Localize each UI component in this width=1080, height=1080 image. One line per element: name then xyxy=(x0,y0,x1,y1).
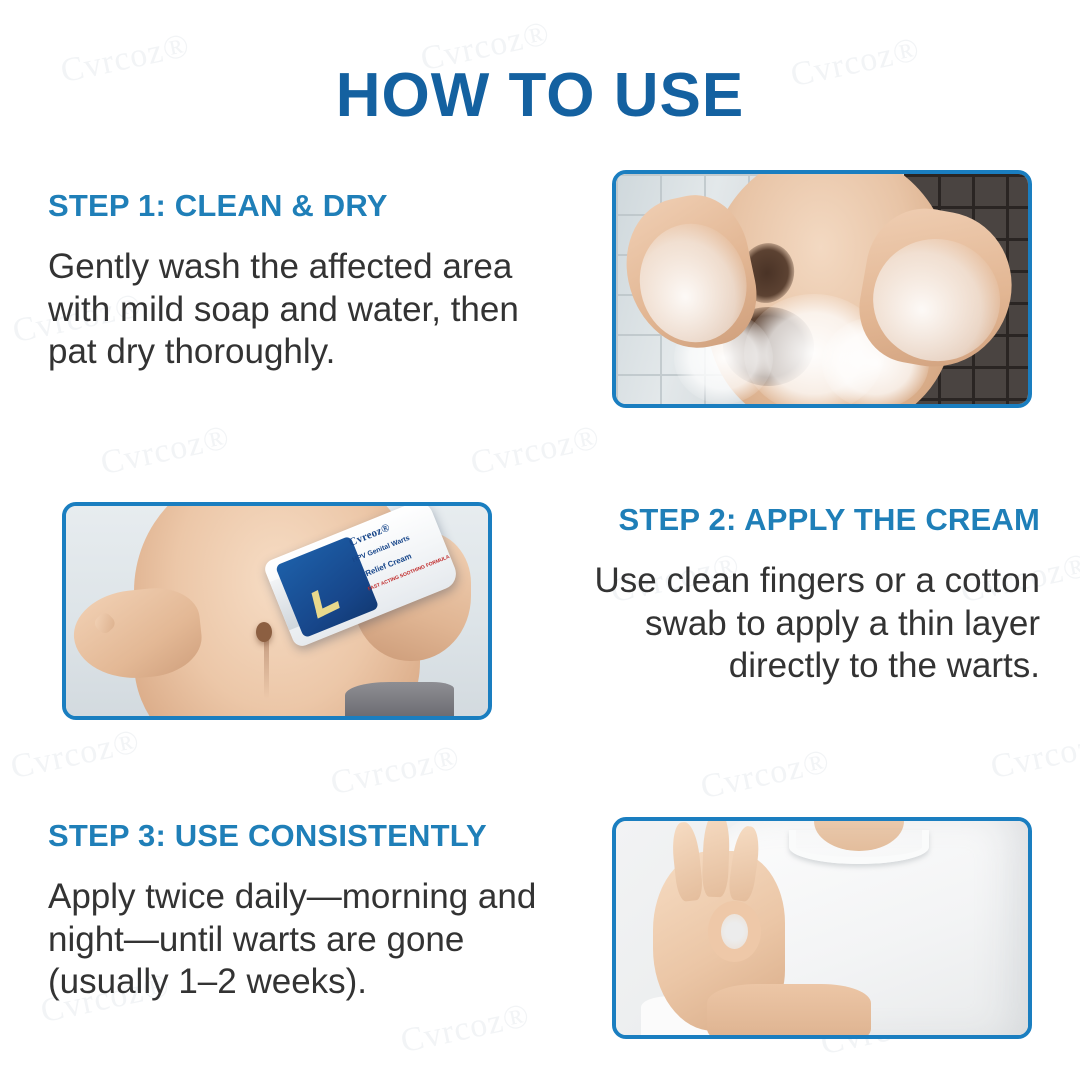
step-3-text-block: STEP 3: USE CONSISTENTLY Apply twice dai… xyxy=(48,818,558,1004)
step-2-body: Use clean fingers or a cotton swab to ap… xyxy=(548,560,1040,688)
index-finger xyxy=(92,611,117,636)
shower-scene xyxy=(616,174,1028,404)
navel xyxy=(256,622,272,642)
ok-gesture-scene xyxy=(616,821,1028,1035)
finger xyxy=(702,817,731,898)
step-1-image xyxy=(612,170,1032,408)
wrist xyxy=(707,984,872,1039)
step-3-heading: STEP 3: USE CONSISTENTLY xyxy=(48,818,558,854)
step-1-heading: STEP 1: CLEAN & DRY xyxy=(48,188,548,224)
step-3-image xyxy=(612,817,1032,1039)
step-1-body: Gently wash the affected area with mild … xyxy=(48,246,548,374)
abdomen-line xyxy=(264,636,269,699)
step-1-text-block: STEP 1: CLEAN & DRY Gently wash the affe… xyxy=(48,188,548,374)
step-3-body: Apply twice daily—morning and night—unti… xyxy=(48,876,558,1004)
step-2-heading: STEP 2: APPLY THE CREAM xyxy=(548,502,1040,538)
step-2-image: Cvreoz® HPV Genital Warts Relief Cream F… xyxy=(62,502,492,720)
chevron-icon xyxy=(312,582,341,619)
waistband xyxy=(345,682,455,716)
infographic-page: HOW TO USE STEP 1: CLEAN & DRY Gently wa… xyxy=(0,0,1080,1080)
shirt-collar xyxy=(789,830,929,864)
cream-application-scene: Cvreoz® HPV Genital Warts Relief Cream F… xyxy=(66,506,488,716)
page-title: HOW TO USE xyxy=(0,60,1080,131)
ok-ring-gesture xyxy=(708,901,761,962)
step-2-text-block: STEP 2: APPLY THE CREAM Use clean finger… xyxy=(548,502,1040,688)
